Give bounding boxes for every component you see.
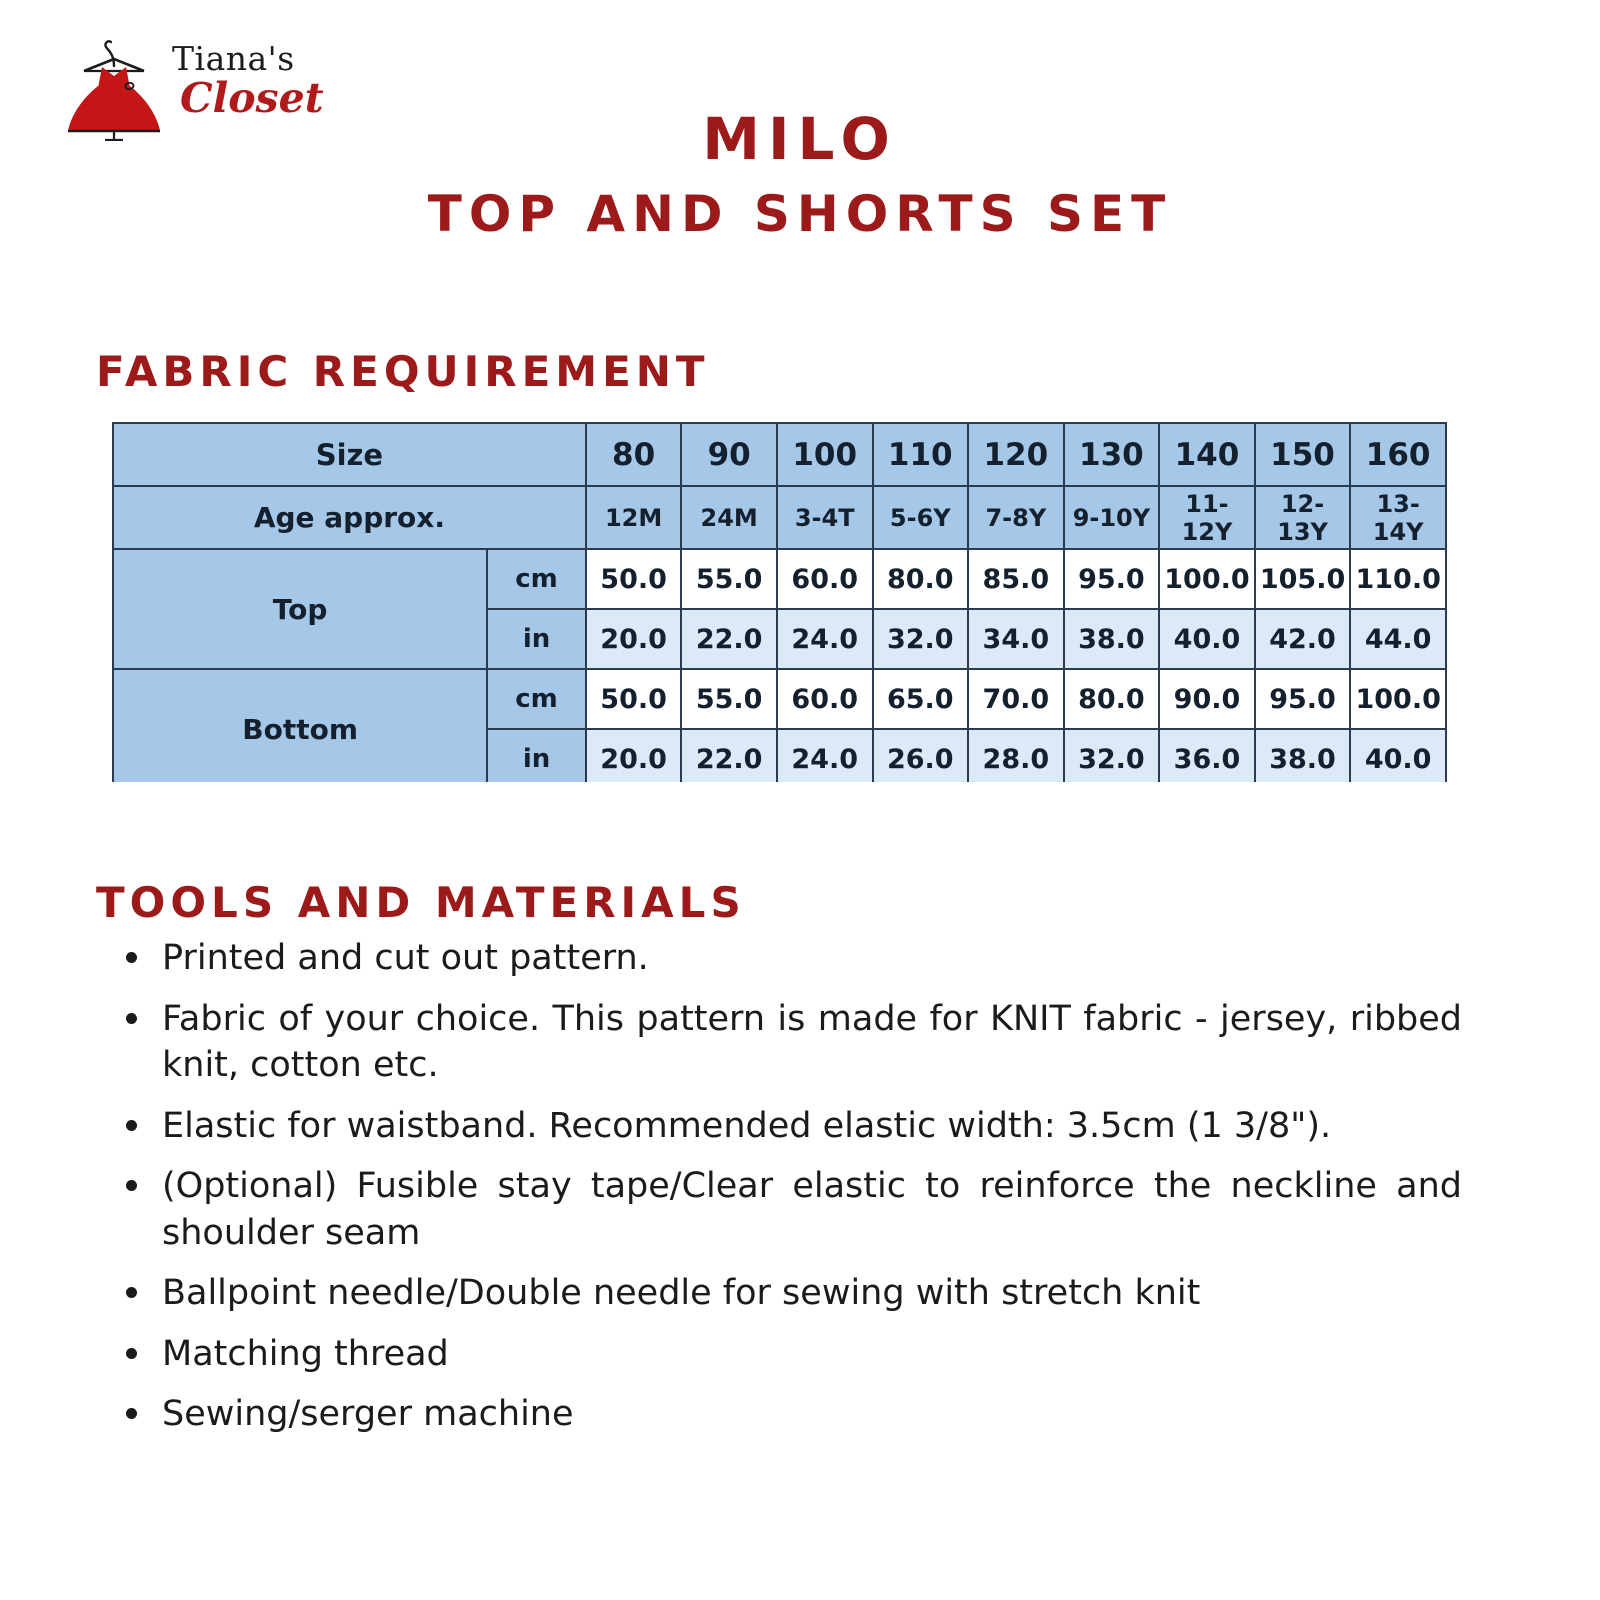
table-cell-top-cm-100: 60.0 <box>777 549 873 609</box>
table-header-age-label: Age approx. <box>113 486 586 549</box>
table-unit-label-in: in <box>487 609 586 669</box>
table-cell-bottom-cm-130: 80.0 <box>1064 669 1160 729</box>
bullet-icon <box>126 1120 137 1131</box>
table-cell-top-in-130: 38.0 <box>1064 609 1160 669</box>
bullet-icon <box>126 1287 137 1298</box>
table-cell-bottom-cm-90: 55.0 <box>681 669 777 729</box>
table-cell-bottom-cm-80: 50.0 <box>586 669 682 729</box>
list-item: Elastic for waistband. Recommended elast… <box>112 1103 1462 1150</box>
list-item: Ballpoint needle/Double needle for sewin… <box>112 1270 1462 1317</box>
table-header-size-130: 130 <box>1064 423 1160 486</box>
table-cell-top-in-140: 40.0 <box>1159 609 1255 669</box>
table-header-size-140: 140 <box>1159 423 1255 486</box>
table-header-age-100: 3-4T <box>777 486 873 549</box>
list-item-text: Printed and cut out pattern. <box>162 938 649 978</box>
table-cell-top-cm-150: 105.0 <box>1255 549 1351 609</box>
bullet-icon <box>126 1013 137 1024</box>
table-row-top-cm: Topcm50.055.060.080.085.095.0100.0105.01… <box>113 549 1446 609</box>
table-cell-top-in-80: 20.0 <box>586 609 682 669</box>
table-row-bottom-cm: Bottomcm50.055.060.065.070.080.090.095.0… <box>113 669 1446 729</box>
brand-name-line1: Tiana's <box>172 42 295 75</box>
table-cell-bottom-in-130: 32.0 <box>1064 729 1160 782</box>
list-item: Sewing/serger machine <box>112 1391 1462 1438</box>
bullet-icon <box>126 952 137 963</box>
list-item: Fabric of your choice. This pattern is m… <box>112 996 1462 1089</box>
table-cell-bottom-in-140: 36.0 <box>1159 729 1255 782</box>
table-cell-bottom-cm-110: 65.0 <box>873 669 969 729</box>
fabric-requirement-table-container: Size8090100110120130140150160Age approx.… <box>112 422 1447 782</box>
list-item-text: Matching thread <box>162 1334 449 1374</box>
table-cell-bottom-in-90: 22.0 <box>681 729 777 782</box>
table-header-age-120: 7-8Y <box>968 486 1064 549</box>
table-cell-bottom-in-160: 40.0 <box>1350 729 1446 782</box>
table-cell-bottom-in-150: 38.0 <box>1255 729 1351 782</box>
section-heading-fabric-requirement: FABRIC REQUIREMENT <box>96 347 710 396</box>
table-header-age-130: 9-10Y <box>1064 486 1160 549</box>
table-header-size-100: 100 <box>777 423 873 486</box>
table-cell-top-cm-130: 95.0 <box>1064 549 1160 609</box>
table-cell-top-cm-160: 110.0 <box>1350 549 1446 609</box>
table-header-size-150: 150 <box>1255 423 1351 486</box>
table-cell-bottom-cm-100: 60.0 <box>777 669 873 729</box>
table-header-size-120: 120 <box>968 423 1064 486</box>
list-item: (Optional) Fusible stay tape/Clear elast… <box>112 1163 1462 1256</box>
fabric-requirement-table: Size8090100110120130140150160Age approx.… <box>112 422 1447 782</box>
table-header-age-90: 24M <box>681 486 777 549</box>
table-header-age-110: 5-6Y <box>873 486 969 549</box>
table-unit-label-cm: cm <box>487 549 586 609</box>
section-heading-tools-and-materials: TOOLS AND MATERIALS <box>96 878 746 927</box>
list-item: Matching thread <box>112 1331 1462 1378</box>
table-header-size-160: 160 <box>1350 423 1446 486</box>
table-header-size-label: Size <box>113 423 586 486</box>
table-header-age-140: 11-12Y <box>1159 486 1255 549</box>
table-header-size-80: 80 <box>586 423 682 486</box>
table-cell-bottom-cm-150: 95.0 <box>1255 669 1351 729</box>
table-cell-bottom-in-100: 24.0 <box>777 729 873 782</box>
list-item-text: Sewing/serger machine <box>162 1394 574 1434</box>
table-cell-top-in-160: 44.0 <box>1350 609 1446 669</box>
bullet-icon <box>126 1348 137 1359</box>
table-cell-top-in-120: 34.0 <box>968 609 1064 669</box>
list-item-text: Elastic for waistband. Recommended elast… <box>162 1106 1331 1146</box>
table-header-size-110: 110 <box>873 423 969 486</box>
table-cell-top-cm-90: 55.0 <box>681 549 777 609</box>
tools-and-materials-list: Printed and cut out pattern.Fabric of yo… <box>112 935 1462 1452</box>
table-cell-bottom-in-110: 26.0 <box>873 729 969 782</box>
table-cell-top-in-100: 24.0 <box>777 609 873 669</box>
bullet-icon <box>126 1180 137 1191</box>
table-cell-bottom-cm-160: 100.0 <box>1350 669 1446 729</box>
table-header-age-150: 12-13Y <box>1255 486 1351 549</box>
table-header-age-80: 12M <box>586 486 682 549</box>
table-cell-bottom-cm-120: 70.0 <box>968 669 1064 729</box>
table-unit-label-in: in <box>487 729 586 782</box>
page-title: MILO <box>0 105 1600 173</box>
table-cell-top-cm-120: 85.0 <box>968 549 1064 609</box>
table-group-label-bottom: Bottom <box>113 669 487 782</box>
bullet-icon <box>126 1408 137 1419</box>
list-item: Printed and cut out pattern. <box>112 935 1462 982</box>
table-cell-top-in-150: 42.0 <box>1255 609 1351 669</box>
table-group-label-top: Top <box>113 549 487 669</box>
page-subtitle: TOP AND SHORTS SET <box>0 185 1600 243</box>
table-header-age-160: 13-14Y <box>1350 486 1446 549</box>
table-row-size: Size8090100110120130140150160 <box>113 423 1446 486</box>
table-unit-label-cm: cm <box>487 669 586 729</box>
table-cell-bottom-in-80: 20.0 <box>586 729 682 782</box>
list-item-text: (Optional) Fusible stay tape/Clear elast… <box>162 1166 1462 1253</box>
table-row-age: Age approx.12M24M3-4T5-6Y7-8Y9-10Y11-12Y… <box>113 486 1446 549</box>
table-cell-top-cm-140: 100.0 <box>1159 549 1255 609</box>
list-item-text: Fabric of your choice. This pattern is m… <box>162 999 1462 1086</box>
table-cell-bottom-in-120: 28.0 <box>968 729 1064 782</box>
table-cell-top-cm-110: 80.0 <box>873 549 969 609</box>
list-item-text: Ballpoint needle/Double needle for sewin… <box>162 1273 1200 1313</box>
table-cell-bottom-cm-140: 90.0 <box>1159 669 1255 729</box>
table-cell-top-in-90: 22.0 <box>681 609 777 669</box>
table-cell-top-in-110: 32.0 <box>873 609 969 669</box>
table-cell-top-cm-80: 50.0 <box>586 549 682 609</box>
table-header-size-90: 90 <box>681 423 777 486</box>
